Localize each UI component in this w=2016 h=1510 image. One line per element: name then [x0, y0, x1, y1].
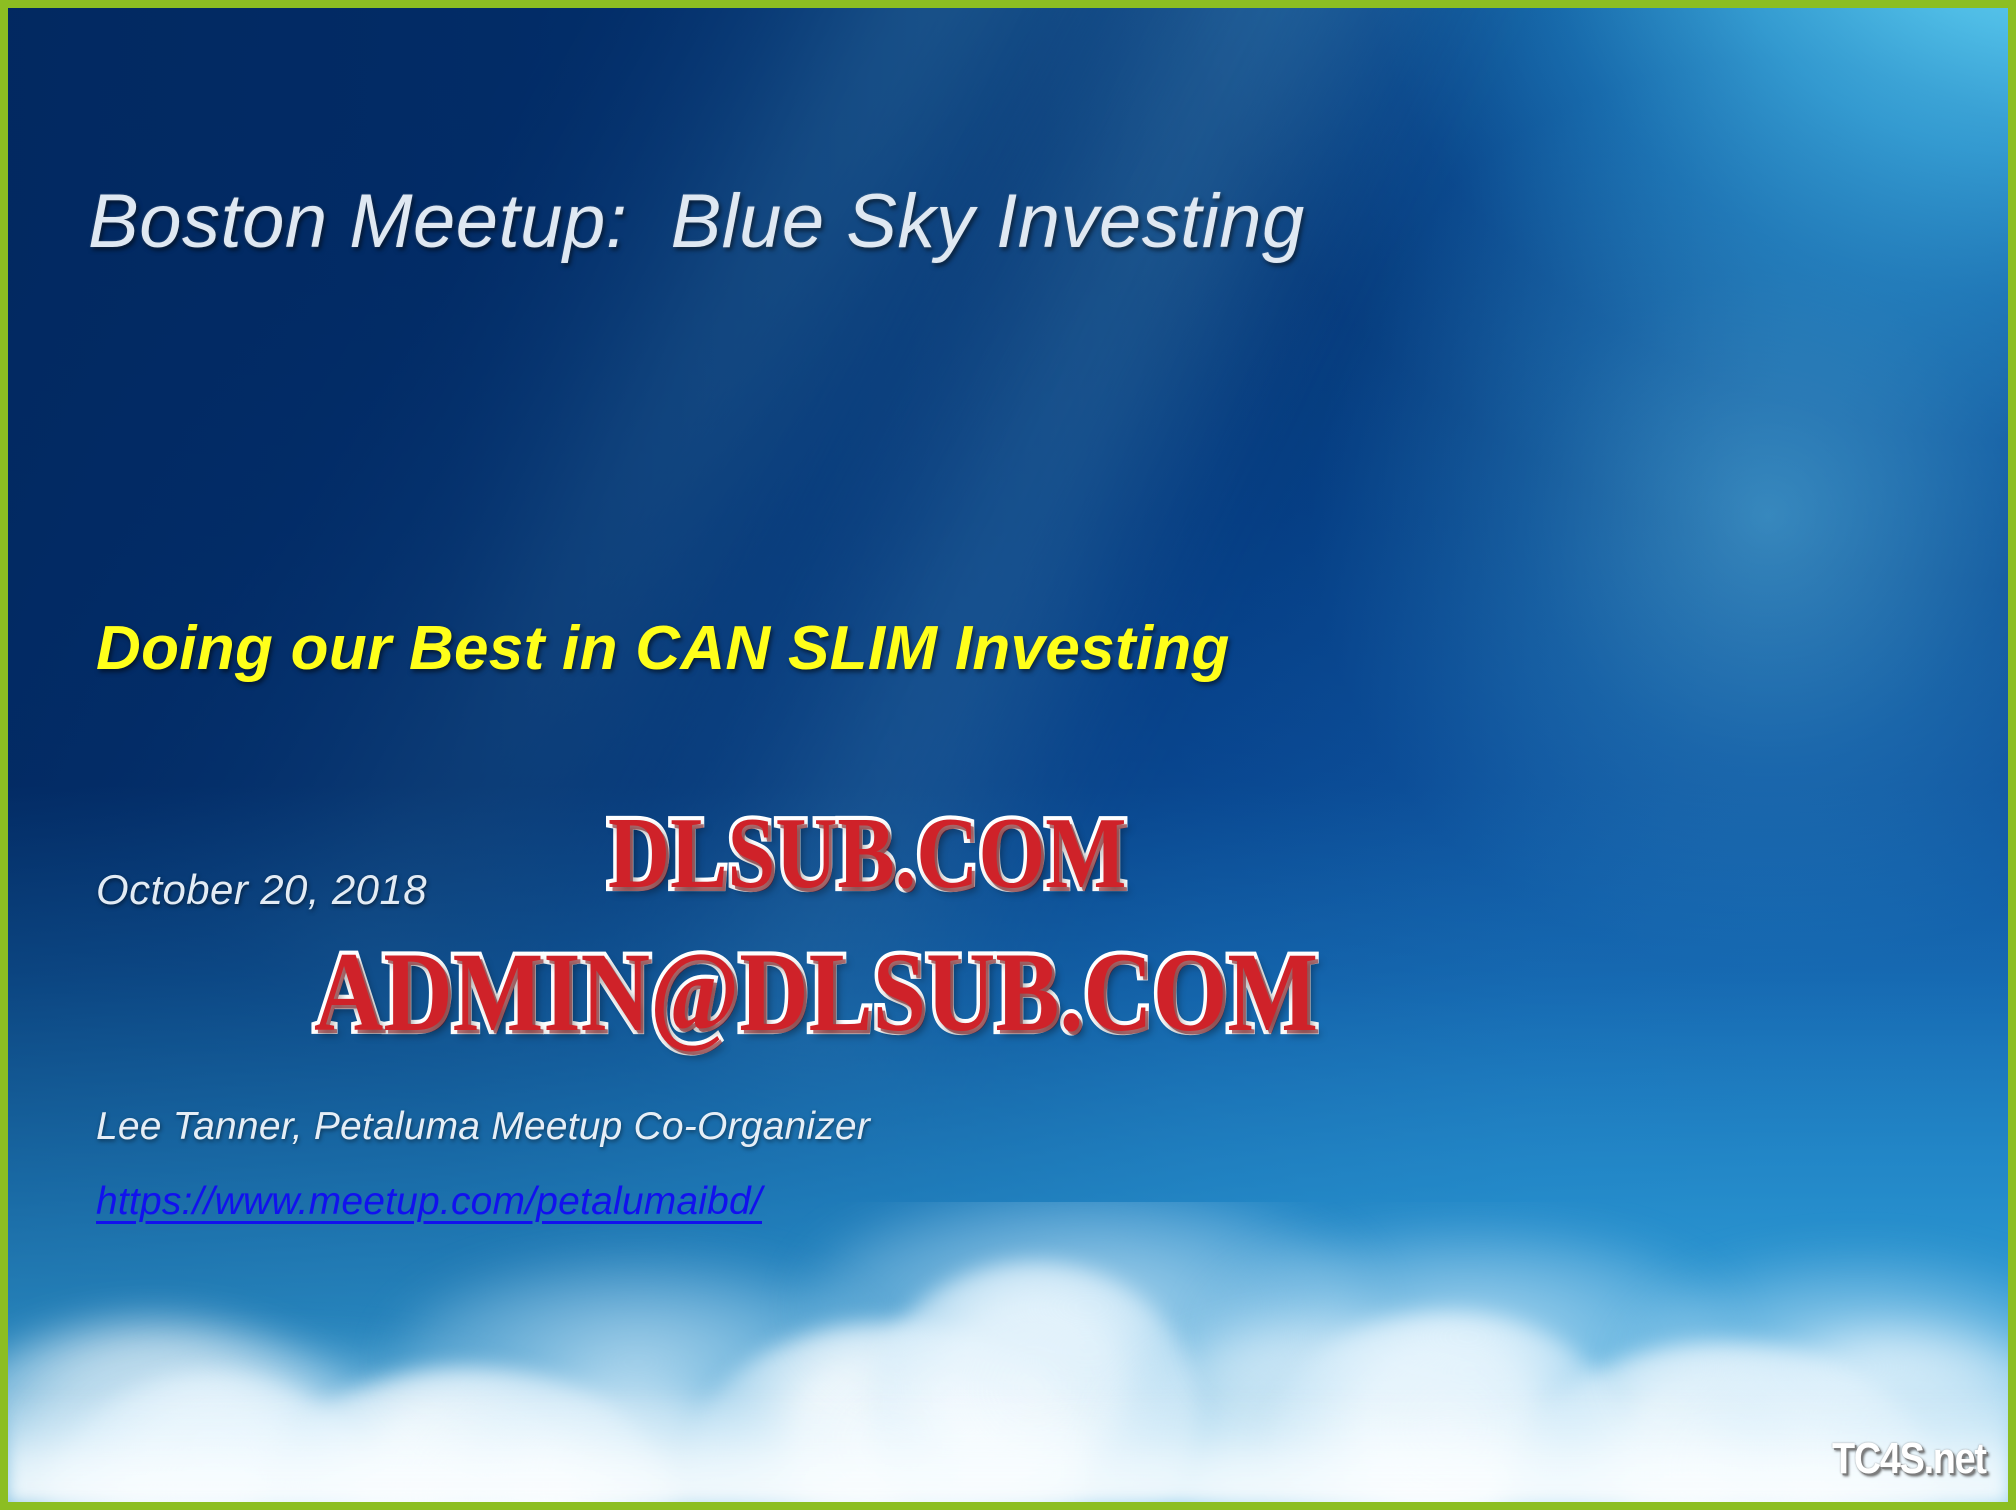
- slide-title: Boston Meetup: Blue Sky Investing: [88, 178, 1788, 265]
- slide-canvas: Boston Meetup: Blue Sky Investing Doing …: [8, 8, 2008, 1502]
- meetup-link[interactable]: https://www.meetup.com/petalumaibd/: [96, 1180, 762, 1224]
- slide-author: Lee Tanner, Petaluma Meetup Co-Organizer: [96, 1105, 870, 1149]
- watermark-dlsub-domain: DLSUB.COM: [608, 794, 1126, 912]
- watermark-dlsub-email: ADMIN@DLSUB.COM: [314, 926, 1318, 1057]
- tc4s-net-logo: TC4S.net: [1832, 1434, 1986, 1484]
- slide-frame: Boston Meetup: Blue Sky Investing Doing …: [0, 0, 2016, 1510]
- slide-text-layer: Boston Meetup: Blue Sky Investing Doing …: [8, 8, 2008, 1502]
- slide-subtitle: Doing our Best in CAN SLIM Investing: [96, 613, 1696, 684]
- slide-date: October 20, 2018: [96, 866, 427, 914]
